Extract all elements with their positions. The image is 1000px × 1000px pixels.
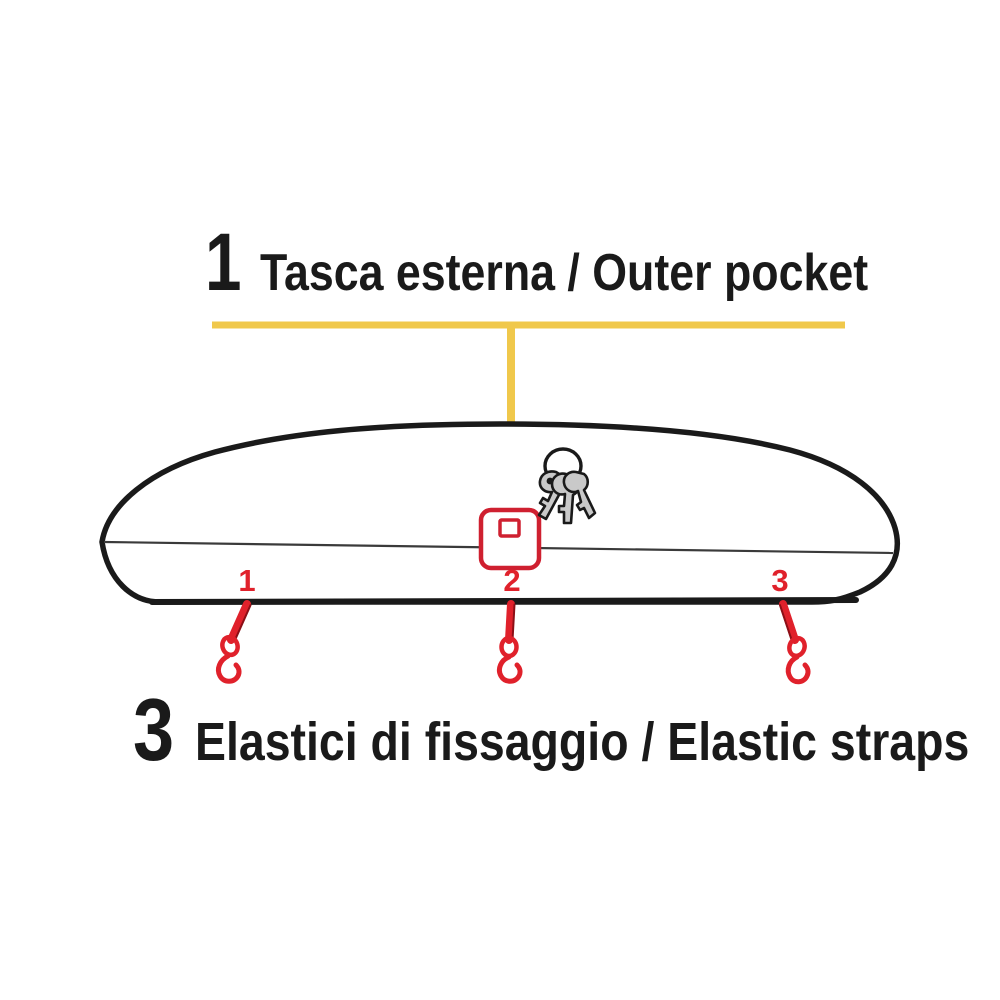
hook-j-2 [499,657,520,681]
diagram-page: 1 Tasca esterna / Outer pocket 3 Elastic… [0,0,1000,1000]
elastic-strap-3 [780,604,808,682]
hook-j-1 [218,656,239,681]
lock-keyhole-icon [500,520,519,536]
strap-marker-2: 2 [503,563,520,598]
hook-j-3 [788,657,808,682]
strap-marker-1: 1 [238,563,255,598]
roof-box-bottom-edge [152,600,856,602]
elastic-strap-1 [218,604,250,681]
strap-marker-3: 3 [771,563,788,598]
hook-eyelet-1 [220,635,240,657]
elastic-strap-2 [499,604,520,681]
roof-box-illustration: 1 2 3 [0,0,1000,1000]
